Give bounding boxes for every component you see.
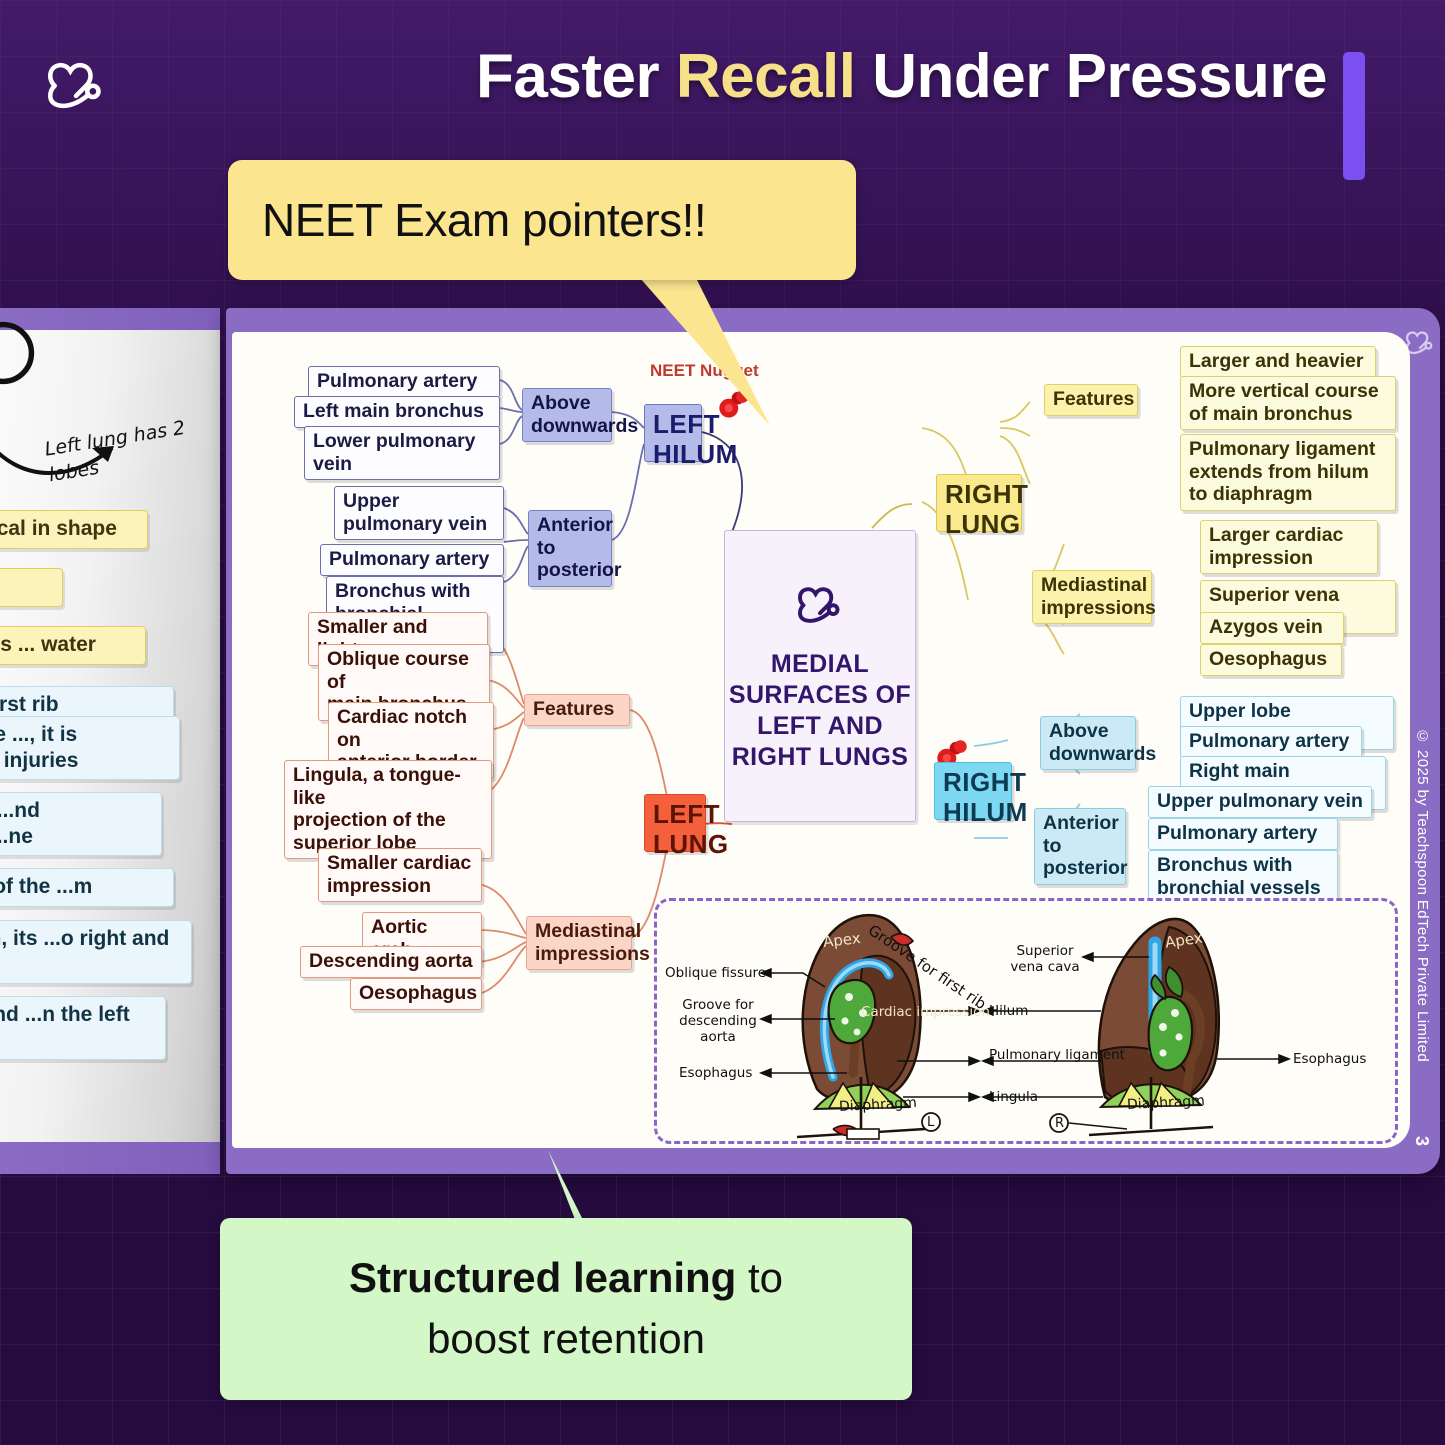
headline-part-1: Faster <box>476 42 676 111</box>
headline-part-3: Under Pressure <box>856 42 1328 111</box>
anat-label-groove-descending-aorta: Groove for descending aorta <box>671 997 765 1046</box>
anat-label-hilum: Hilum <box>989 1003 1028 1019</box>
book-page-right: © 2025 by Teachspoon EdTech Private Limi… <box>226 308 1440 1174</box>
left-page-box-2: ...nature makes ... water <box>0 626 146 665</box>
left-page-box-8: ...f stomach and ...n the left side <box>0 996 166 1060</box>
callout-top-tail <box>640 278 800 438</box>
left-page-box-0: ...piratory ...nical in shape <box>0 510 148 549</box>
left-page-logo-icon <box>0 318 38 388</box>
callout-neet-pointers: NEET Exam pointers!! <box>228 160 856 280</box>
callout-top-text: NEET Exam pointers!! <box>262 193 706 247</box>
anat-label-esophagus-right: Esophagus <box>1293 1051 1366 1067</box>
page-number: 3 <box>1411 1136 1432 1146</box>
mindmap-branch-left-lung-mediastinal[interactable]: Mediastinal impressions <box>526 916 632 970</box>
mindmap-node-right-hilum[interactable]: RIGHT HILUM <box>934 762 1012 820</box>
anat-label-superior-vena-cava: Superior vena cava <box>1003 943 1087 975</box>
mindmap-node-right-lung[interactable]: RIGHT LUNG <box>936 474 1022 532</box>
callout-structured-learning: Structured learning to boost retention <box>220 1218 912 1400</box>
center-node-title: MEDIAL SURFACES OF LEFT AND RIGHT LUNGS <box>725 649 915 773</box>
mindmap-branch-left-hilum-above-downwards[interactable]: Above downwards <box>522 388 612 442</box>
mindmap-leaf-ll-f-3[interactable]: Lingula, a tongue-like projection of the… <box>284 760 492 859</box>
left-page-box-7: ...e diaphragm, its ...o right and left … <box>0 920 192 984</box>
mindmap: MEDIAL SURFACES OF LEFT AND RIGHT LUNGS … <box>232 332 1410 1148</box>
mindmap-leaf-ll-m-3[interactable]: Oesophagus <box>350 978 482 1010</box>
mindmap-branch-right-hilum-anterior-posterior[interactable]: Anterior to posterior <box>1034 808 1126 885</box>
mindmap-leaf-rl-f-1[interactable]: More vertical course of main bronchus <box>1180 376 1396 430</box>
mindmap-leaf-rh-ad-1[interactable]: Pulmonary artery <box>1180 726 1362 758</box>
anat-label-pulmonary-ligament: Pulmonary ligament <box>989 1047 1125 1063</box>
mindmap-leaf-rl-m-2[interactable]: Azygos vein <box>1200 612 1344 644</box>
page-sheet: MEDIAL SURFACES OF LEFT AND RIGHT LUNGS … <box>232 332 1410 1148</box>
mindmap-leaf-lh-ad-2[interactable]: Lower pulmonary vein <box>304 426 500 480</box>
mindmap-leaf-ll-m-2[interactable]: Descending aorta <box>300 946 482 978</box>
headline-highlight: Recall <box>676 42 856 111</box>
heart-stethoscope-icon <box>788 579 852 635</box>
mindmap-node-left-lung[interactable]: LEFT LUNG <box>644 794 706 852</box>
mindmap-leaf-rl-f-2[interactable]: Pulmonary ligament extends from hilum to… <box>1180 434 1396 511</box>
page-title: Faster Recall Under Pressure <box>427 42 1327 112</box>
mindmap-branch-right-lung-mediastinal[interactable]: Mediastinal impressions <box>1032 570 1152 624</box>
mindmap-branch-right-hilum-above-downwards[interactable]: Above downwards <box>1040 716 1136 770</box>
headline-accent-bar <box>1343 52 1365 180</box>
callout-bottom-line2: boost retention <box>427 1309 705 1370</box>
mindmap-leaf-lh-ad-1[interactable]: Left main bronchus <box>294 396 500 428</box>
anat-label-lingula: Lingula <box>989 1089 1038 1105</box>
anat-label-cardiac-impression: Cardiac impression <box>861 1004 990 1020</box>
mindmap-leaf-lh-ap-1[interactable]: Pulmonary artery <box>320 544 504 576</box>
callout-bottom-rest: to <box>736 1254 783 1301</box>
mindmap-branch-left-lung-features[interactable]: Features <box>524 694 630 726</box>
heart-stethoscope-icon <box>40 52 112 124</box>
mindmap-leaf-ll-m-0[interactable]: Smaller cardiac impression <box>318 848 482 902</box>
mindmap-leaf-rh-ap-0[interactable]: Upper pulmonary vein <box>1148 786 1372 818</box>
copyright-text: © 2025 by Teachspoon EdTech Private Limi… <box>1414 728 1431 1062</box>
mindmap-leaf-rl-f-0[interactable]: Larger and heavier <box>1180 346 1376 378</box>
lungs-medial-surface-illustration <box>657 901 1398 1144</box>
left-page-box-5: ... by cervical ...nd suprapleural ...ne <box>0 792 162 856</box>
mindmap-leaf-rl-m-3[interactable]: Oesophagus <box>1200 644 1342 676</box>
left-page-box-1: ...astic ...y <box>0 568 63 607</box>
mindmap-leaf-rh-ap-1[interactable]: Pulmonary artery <box>1148 818 1338 850</box>
mindmap-leaf-lh-ap-0[interactable]: Upper pulmonary vein <box>334 486 504 540</box>
mindmap-leaf-rh-ap-2[interactable]: Bronchus with bronchial vessels <box>1148 850 1338 904</box>
callout-bottom-line1: Structured learning to <box>349 1248 783 1309</box>
mindmap-center-node[interactable]: MEDIAL SURFACES OF LEFT AND RIGHT LUNGS <box>724 530 916 822</box>
anat-label-oblique-fissure: Oblique fissure <box>665 965 766 981</box>
anat-marker-right-side: R <box>1055 1116 1064 1132</box>
anat-marker-left-side: L <box>927 1115 934 1131</box>
mindmap-leaf-lh-ad-0[interactable]: Pulmonary artery <box>308 366 500 398</box>
mindmap-leaf-rl-m-0[interactable]: Larger cardiac impression <box>1200 520 1378 574</box>
mindmap-branch-right-lung-features[interactable]: Features <box>1044 384 1138 416</box>
left-page-box-6: ... the domes of the ...m <box>0 868 174 907</box>
left-page-box-4: ...ts vulnerable ..., it is susceptible … <box>0 716 180 780</box>
book-page-left: Left lung has 2 lobes ...piratory ...nic… <box>0 308 220 1174</box>
anatomy-diagram-panel: Apex Groove for first rib Oblique fissur… <box>654 898 1398 1144</box>
callout-bottom-bold: Structured learning <box>349 1254 736 1301</box>
mindmap-branch-left-hilum-anterior-posterior[interactable]: Anterior to posterior <box>528 510 612 587</box>
book-spread: Left lung has 2 lobes ...piratory ...nic… <box>0 308 1445 1188</box>
anat-label-esophagus-left: Esophagus <box>679 1065 752 1081</box>
left-page-bottom-band <box>0 1142 220 1174</box>
